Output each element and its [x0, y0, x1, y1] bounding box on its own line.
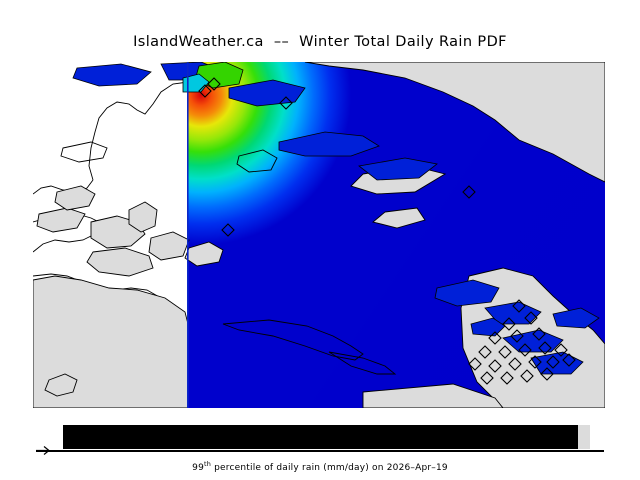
- colorbar-tail-segment: [578, 425, 590, 449]
- colorbar-caption: 99th percentile of daily rain (mm/day) o…: [0, 460, 640, 473]
- map-plot-area[interactable]: [33, 62, 605, 408]
- colorbar-arrow-icon: [36, 446, 50, 455]
- caption-percentile-value: 99: [192, 463, 204, 473]
- colorbar-axis-rule: [36, 450, 604, 452]
- domain-west-edge: [187, 62, 189, 408]
- colorbar[interactable]: [63, 425, 590, 449]
- weather-map-page: IslandWeather.ca –– Winter Total Daily R…: [0, 0, 640, 480]
- page-title: IslandWeather.ca –– Winter Total Daily R…: [0, 34, 640, 50]
- caption-description: percentile of daily rain (mm/day) on 202…: [211, 463, 448, 473]
- map-graphics: [33, 62, 605, 408]
